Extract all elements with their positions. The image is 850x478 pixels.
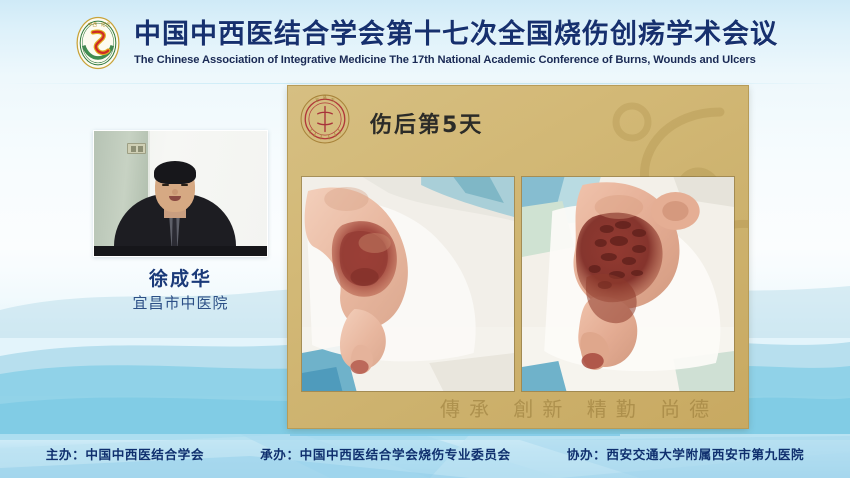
header-title-block: 中国中西医结合学会第十七次全国烧伤创疡学术会议 The Chinese Asso… bbox=[134, 18, 778, 65]
speaker-nose bbox=[172, 189, 178, 195]
speaker-eye-left bbox=[162, 184, 169, 187]
clinical-photo-right[interactable] bbox=[522, 177, 734, 391]
clinical-photo-left[interactable] bbox=[302, 177, 514, 391]
presentation-slide[interactable]: 宜昌市 伤后第5天 bbox=[288, 86, 748, 428]
speaker-eyebrow-left bbox=[161, 180, 170, 182]
webcast-stage: 中西 结合 中国中西医结合学会第十七次全国烧伤创疡学术会议 The Chines… bbox=[0, 0, 850, 478]
conference-title-chinese: 中国中西医结合学会第十七次全国烧伤创疡学术会议 bbox=[134, 20, 778, 50]
wall-switch-icon bbox=[127, 143, 146, 154]
svg-text:市: 市 bbox=[331, 97, 335, 102]
webcam-scene bbox=[94, 131, 267, 256]
speaker-name: 徐成华 bbox=[93, 264, 268, 291]
sponsor-footer-banner: 主办：中国中西医结合学会 承办：中国中西医结合学会烧伤专业委员会 协办：西安交通… bbox=[0, 434, 850, 478]
svg-text:昌: 昌 bbox=[323, 95, 327, 100]
cai-m-circular-emblem-icon: 中西 结合 bbox=[72, 15, 124, 71]
speaker-organization: 宜昌市中医院 bbox=[93, 292, 268, 313]
svg-text:宜: 宜 bbox=[315, 97, 319, 102]
conference-title-english: The Chinese Association of Integrative M… bbox=[134, 54, 778, 66]
webcam-desk bbox=[94, 246, 267, 256]
speaker-eye-right bbox=[181, 184, 188, 187]
organizer-coorganizer: 协办：西安交通大学附属西安市第九医院 bbox=[567, 449, 805, 462]
organizer-host: 主办：中国中西医结合学会 bbox=[46, 449, 204, 462]
hospital-seal-icon: 宜昌市 bbox=[299, 93, 351, 145]
clinical-photo-row bbox=[302, 177, 734, 391]
slide-title: 伤后第5天 bbox=[370, 107, 483, 139]
conference-header: 中西 结合 中国中西医结合学会第十七次全国烧伤创疡学术会议 The Chines… bbox=[0, 0, 850, 84]
organizer-undertaker: 承办：中国中西医结合学会烧伤专业委员会 bbox=[260, 449, 511, 462]
speaker-webcam-video[interactable] bbox=[93, 130, 268, 257]
speaker-eyebrow-right bbox=[180, 180, 189, 182]
slide-watermark: 傳承 創新 精勤 尚德 bbox=[440, 393, 718, 422]
sponsor-list: 主办：中国中西医结合学会 承办：中国中西医结合学会烧伤专业委员会 协办：西安交通… bbox=[0, 434, 850, 478]
